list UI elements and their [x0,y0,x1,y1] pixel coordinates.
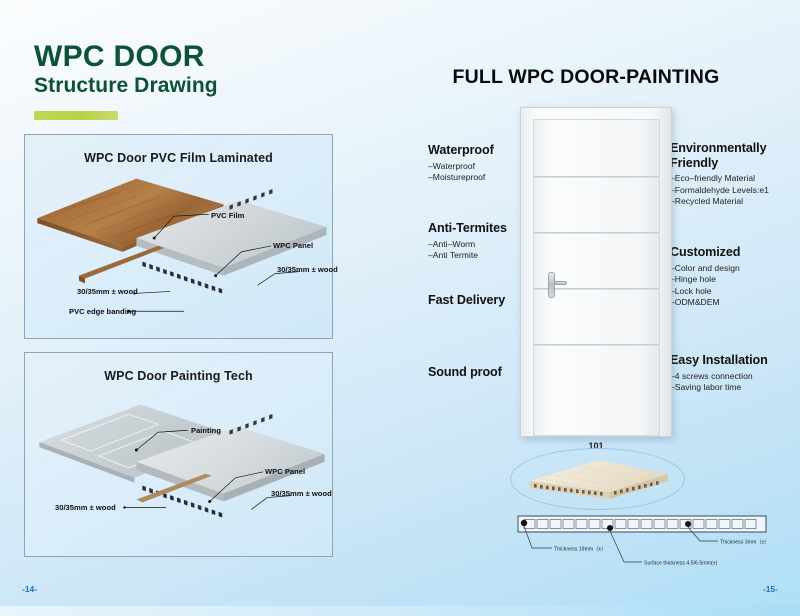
door-frame [520,107,672,437]
feature-item: –Eco–friendly Material [670,173,800,185]
diagram-panel-pvc-film: WPC Door PVC Film Laminated [24,134,333,339]
title-accent-bar [34,111,118,120]
label-total-thickness: Thickness 19mm（±） [554,546,606,553]
feature-heading: Waterproof [428,143,494,158]
feature-sound-proof: Sound proof [428,365,502,380]
left-column: WPC DOOR Structure Drawing WPC Door PVC … [0,0,372,616]
feature-item: –4 screws connection [670,371,800,383]
label-wpc-panel: WPC Panel [265,467,305,476]
feature-item: –Anti Termite [428,250,507,262]
feature-item: –Recycled Material [670,196,800,208]
section-title: FULL WPC DOOR-PAINTING [372,66,800,89]
feature-fast-delivery: Fast Delivery [428,293,505,308]
feature-item: –Color and design [670,263,800,275]
page-number-left: -14- [22,584,37,594]
feature-list: –Anti–Worm –Anti Termite [428,239,507,262]
label-pvc-film: PVC Film [211,211,244,220]
right-column: FULL WPC DOOR-PAINTING Waterproof –Water… [372,0,800,616]
cross-section-svg: Thickness 19mm（±） Surface thickness 4.5/… [512,508,788,578]
feature-list: –Color and design –Hinge hole –Lock hole… [670,263,800,309]
feature-item: –Anti–Worm [428,239,507,251]
feature-item: –Hinge hole [670,274,800,286]
feature-customized: Customized –Color and design –Hinge hole… [670,245,800,309]
label-wall-thickness: Thickness 3mm（±） [720,539,770,546]
label-wood-thickness-right: 30/35mm ± wood [277,265,338,274]
feature-item: –Waterproof [428,161,494,173]
catalog-page: WPC DOOR Structure Drawing WPC Door PVC … [0,0,800,616]
feature-anti-termites: Anti-Termites –Anti–Worm –Anti Termite [428,221,507,262]
diagram-panel-painting-tech: WPC Door Painting Tech [24,352,333,557]
door-handle [548,272,555,298]
feature-list: –Eco–friendly Material –Formaldehyde Lev… [670,173,800,208]
door-groove [534,176,659,178]
label-painting: Painting [191,426,221,435]
door-leaf [533,119,660,436]
feature-heading: Fast Delivery [428,293,505,308]
label-wpc-panel: WPC Panel [273,241,313,250]
hollow-core-panel-sample [510,448,685,510]
feature-easy-installation: Easy Installation –4 screws connection –… [670,353,800,394]
painting-tech-illustration [25,353,332,556]
feature-item: –Saving labor time [670,382,800,394]
page-title: WPC DOOR Structure Drawing [34,42,218,97]
feature-item: –Formaldehyde Levels:e1 [670,185,800,197]
door-groove [534,344,659,346]
feature-heading: Anti-Termites [428,221,507,236]
label-pvc-edge-banding: PVC edge banding [69,307,136,316]
feature-list: –4 screws connection –Saving labor time [670,371,800,394]
label-wood-thickness-right: 30/35mm ± wood [271,489,332,498]
feature-heading: Environmentally Friendly [670,141,800,170]
feature-waterproof: Waterproof –Waterproof –Moistureproof [428,143,494,184]
page-number-right: -15- [763,584,778,594]
door-groove [534,232,659,234]
door-image: 101 [520,107,672,437]
feature-environmentally-friendly: Environmentally Friendly –Eco–friendly M… [670,141,800,208]
feature-heading: Sound proof [428,365,502,380]
label-wood-thickness-left: 30/35mm ± wood [55,503,116,512]
feature-item: –Moistureproof [428,172,494,184]
feature-item: –Lock hole [670,286,800,298]
cross-section-diagram: Thickness 19mm（±） Surface thickness 4.5/… [512,508,788,578]
feature-item: –ODM&DEM [670,297,800,309]
label-surface-thickness: Surface thickness 4.5/6.5mm(±) [644,561,717,567]
feature-heading: Customized [670,245,800,260]
feature-list: –Waterproof –Moistureproof [428,161,494,184]
title-subtitle: Structure Drawing [34,75,218,97]
label-wood-thickness-left: 30/35mm ± wood [77,287,138,296]
title-main: WPC DOOR [34,42,218,73]
panel-sample-callout [510,448,685,510]
feature-heading: Easy Installation [670,353,800,368]
